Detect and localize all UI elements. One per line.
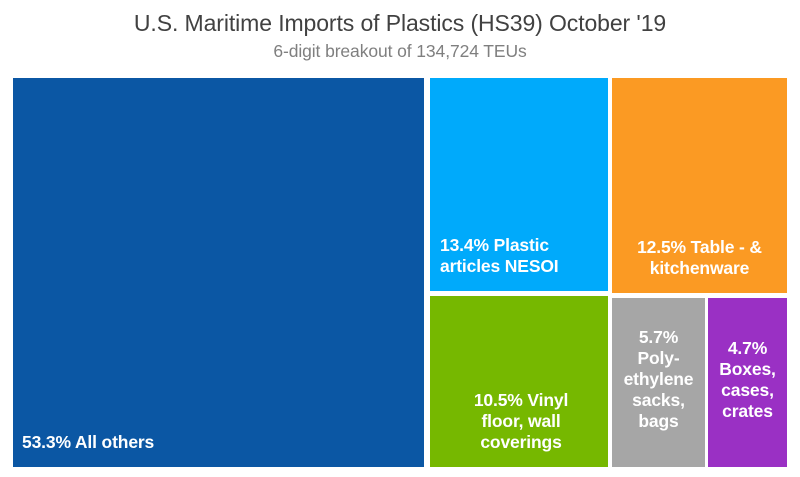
treemap-tile-label: 5.7% Poly- ethylene sacks, bags xyxy=(616,327,701,432)
treemap-chart: U.S. Maritime Imports of Plastics (HS39)… xyxy=(0,0,800,477)
treemap-tile-label: 4.7% Boxes, cases, crates xyxy=(712,338,783,422)
treemap-tile-vinyl-floor-wall-coverings[interactable]: 10.5% Vinyl floor, wall coverings xyxy=(430,296,608,467)
treemap-tile-label: 12.5% Table - & kitchenware xyxy=(618,237,781,279)
treemap-plot-area: 53.3% All others 13.4% Plastic articles … xyxy=(13,78,787,467)
treemap-tile-all-others[interactable]: 53.3% All others xyxy=(13,78,424,467)
treemap-tile-boxes-cases-crates[interactable]: 4.7% Boxes, cases, crates xyxy=(708,298,787,467)
treemap-tile-polyethylene-sacks-bags[interactable]: 5.7% Poly- ethylene sacks, bags xyxy=(612,298,705,467)
page-title: U.S. Maritime Imports of Plastics (HS39)… xyxy=(0,8,800,38)
treemap-tile-label: 53.3% All others xyxy=(22,432,424,453)
chart-header: U.S. Maritime Imports of Plastics (HS39)… xyxy=(0,8,800,64)
treemap-tile-plastic-articles-nesoi[interactable]: 13.4% Plastic articles NESOI xyxy=(430,78,608,291)
treemap-tile-label: 10.5% Vinyl floor, wall coverings xyxy=(440,390,602,453)
treemap-tile-label: 13.4% Plastic articles NESOI xyxy=(440,235,602,277)
treemap-tile-table-kitchenware[interactable]: 12.5% Table - & kitchenware xyxy=(612,78,787,293)
chart-subtitle: 6-digit breakout of 134,724 TEUs xyxy=(0,38,800,64)
